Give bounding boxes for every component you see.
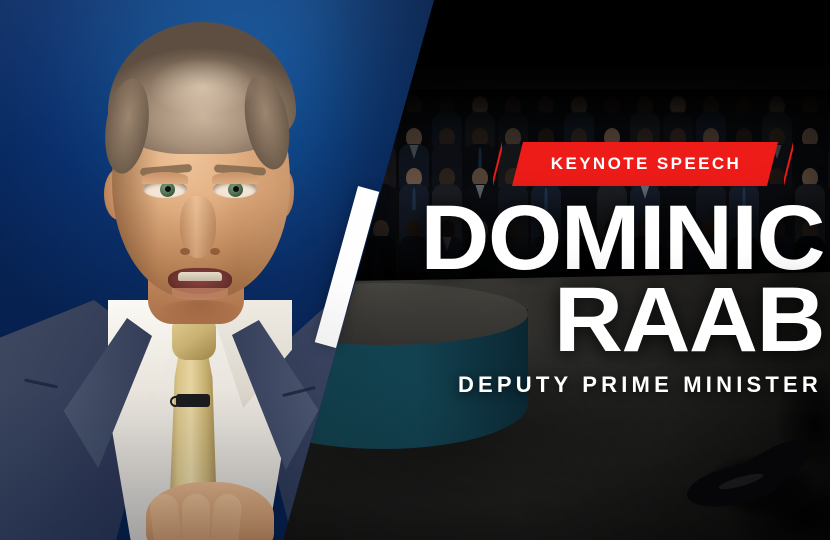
eyelid-right <box>212 172 258 184</box>
keynote-badge: KEYNOTE SPEECH <box>489 142 799 186</box>
microphone-clip-icon <box>170 396 181 407</box>
badge-label: KEYNOTE SPEECH <box>549 154 741 174</box>
finger <box>182 494 210 540</box>
lower-lip <box>172 288 228 300</box>
nostril-left <box>180 248 190 255</box>
badge-slash-right-icon <box>784 142 793 186</box>
lapel-microphone-icon <box>176 394 210 407</box>
keynote-speech-banner: KEYNOTE SPEECH DOMINIC RAAB DEPUTY PRIME… <box>0 0 830 540</box>
chin-shading <box>156 300 244 326</box>
speaker-last-name: RAAB <box>310 278 824 364</box>
nostril-right <box>210 248 220 255</box>
pupil-right <box>233 186 239 192</box>
teeth <box>178 272 222 281</box>
forehead-highlight <box>150 58 254 116</box>
pupil-left <box>165 186 171 192</box>
speaker-name: DOMINIC RAAB <box>330 196 830 363</box>
eyelid-left <box>142 172 188 184</box>
badge-slash-left-icon <box>493 142 502 186</box>
badge-body: KEYNOTE SPEECH <box>512 142 778 186</box>
speaker-role: DEPUTY PRIME MINISTER <box>330 372 830 398</box>
